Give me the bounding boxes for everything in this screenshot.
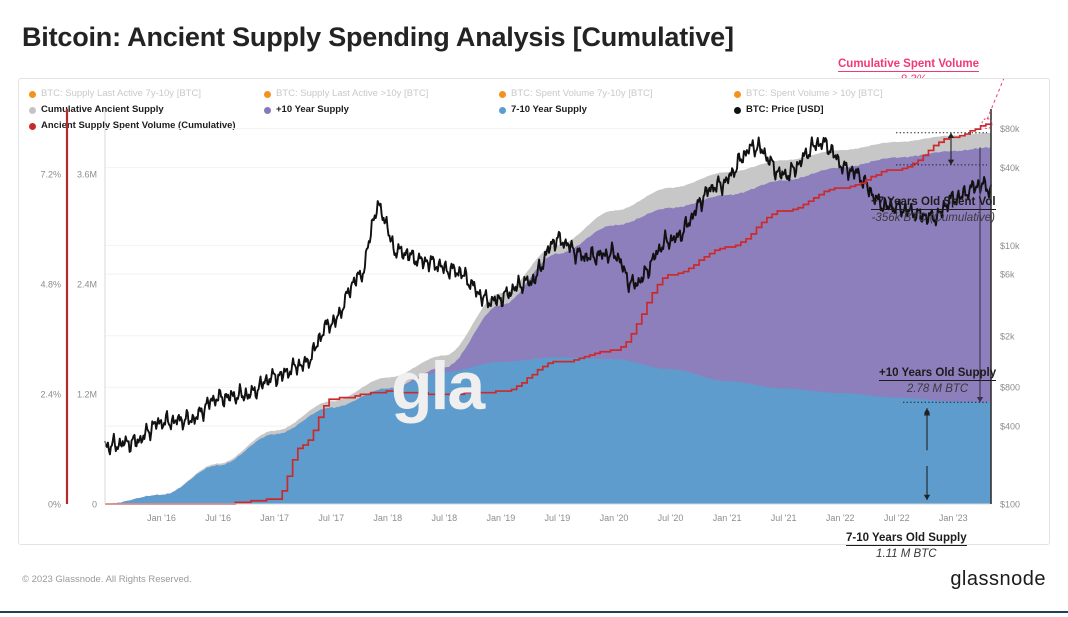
svg-text:Jul '22: Jul '22 [884, 513, 910, 523]
annotation-plus-10-years-old-supply-title: +10 Years Old Supply [879, 367, 996, 381]
annotation-plus-10-years-old-supply: +10 Years Old Supply 2.78 M BTC [879, 363, 996, 395]
svg-text:2.4%: 2.4% [40, 390, 61, 400]
svg-text:$400: $400 [1000, 422, 1020, 432]
page-title: Bitcoin: Ancient Supply Spending Analysi… [22, 22, 734, 53]
annotation-7-10-years-old-supply: 7-10 Years Old Supply 1.11 M BTC [846, 528, 967, 560]
svg-text:$80k: $80k [1000, 124, 1020, 134]
svg-text:Jan '22: Jan '22 [826, 513, 855, 523]
footer-copyright: © 2023 Glassnode. All Rights Reserved. [22, 574, 192, 585]
svg-text:Jan '19: Jan '19 [486, 513, 515, 523]
svg-text:Jan '18: Jan '18 [373, 513, 402, 523]
svg-text:$800: $800 [1000, 383, 1020, 393]
svg-text:Jul '17: Jul '17 [318, 513, 344, 523]
svg-text:0: 0 [92, 500, 97, 510]
svg-text:2.4M: 2.4M [77, 280, 97, 290]
annotation-7-10-years-old-supply-title: 7-10 Years Old Supply [846, 532, 967, 546]
svg-text:4.8%: 4.8% [40, 280, 61, 290]
svg-text:3.6M: 3.6M [77, 170, 97, 180]
svg-text:Jul '16: Jul '16 [205, 513, 231, 523]
svg-text:7.2%: 7.2% [40, 170, 61, 180]
plot-area: 0%2.4%4.8%7.2%01.2M2.4M3.6M$80k$40k$10k$… [19, 79, 1051, 546]
svg-text:Jul '21: Jul '21 [771, 513, 797, 523]
annotation-plus-7-years-old-spent-vol-value: -356k BTC (Cumulative) [871, 212, 996, 224]
annotation-7-10-years-old-supply-value: 1.11 M BTC [846, 548, 967, 560]
chart-page: Bitcoin: Ancient Supply Spending Analysi… [0, 0, 1068, 617]
svg-text:Jan '21: Jan '21 [713, 513, 742, 523]
svg-text:Jul '19: Jul '19 [545, 513, 571, 523]
svg-text:Jan '16: Jan '16 [147, 513, 176, 523]
bottom-rule [0, 611, 1068, 613]
chart-svg: 0%2.4%4.8%7.2%01.2M2.4M3.6M$80k$40k$10k$… [19, 79, 1051, 546]
annotation-plus-7-years-old-spent-vol-title: +7 Years Old Spent Vol [871, 196, 996, 210]
svg-text:0%: 0% [48, 500, 61, 510]
svg-text:$2k: $2k [1000, 331, 1015, 341]
glassnode-logo: glassnode [950, 568, 1046, 591]
annotation-cumulative-spent-volume-title: Cumulative Spent Volume [838, 58, 979, 72]
chart-card: BTC: Supply Last Active 7y-10y [BTC] Cum… [18, 78, 1050, 545]
svg-text:Jul '20: Jul '20 [658, 513, 684, 523]
svg-text:Jan '17: Jan '17 [260, 513, 289, 523]
annotation-plus-10-years-old-supply-value: 2.78 M BTC [879, 383, 996, 395]
svg-text:Jan '20: Jan '20 [600, 513, 629, 523]
svg-text:$40k: $40k [1000, 163, 1020, 173]
svg-text:$6k: $6k [1000, 270, 1015, 280]
svg-text:Jan '23: Jan '23 [939, 513, 968, 523]
annotation-plus-7-years-old-spent-vol: +7 Years Old Spent Vol -356k BTC (Cumula… [871, 192, 996, 224]
svg-text:Jul '18: Jul '18 [431, 513, 457, 523]
svg-text:1.2M: 1.2M [77, 390, 97, 400]
svg-text:$100: $100 [1000, 500, 1020, 510]
svg-text:$10k: $10k [1000, 241, 1020, 251]
